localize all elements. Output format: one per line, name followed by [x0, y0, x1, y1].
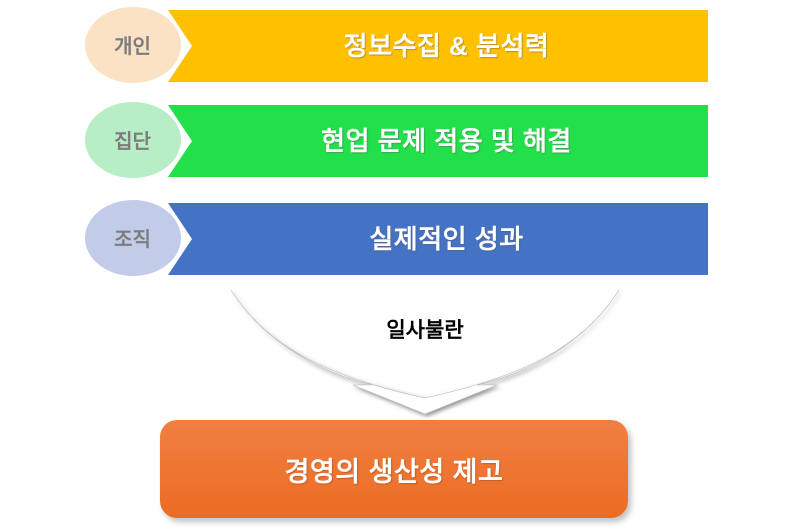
bar-label-organization: 실제적인 성과 [185, 199, 708, 275]
tag-label-organization: 조직 [84, 199, 181, 275]
process-flow-diagram: 개인 정보수집 & 분석력 집단 현업 문제 적용 및 해결 조직 실제적인 성… [0, 0, 785, 530]
bar-label-group: 현업 문제 적용 및 해결 [185, 101, 708, 177]
bar-label-individual: 정보수집 & 분석력 [185, 6, 708, 82]
down-arrow-icon [225, 286, 625, 418]
tag-label-group: 집단 [84, 101, 181, 177]
arrow-label: 일사불란 [225, 314, 625, 344]
tag-label-individual: 개인 [84, 6, 181, 82]
convergence-arrow-group: 일사불란 [225, 286, 625, 418]
result-box: 경영의 생산성 제고 [160, 420, 628, 518]
flow-row-group: 집단 현업 문제 적용 및 해결 [0, 101, 785, 181]
flow-row-individual: 개인 정보수집 & 분석력 [0, 6, 785, 86]
flow-row-organization: 조직 실제적인 성과 [0, 199, 785, 279]
result-label: 경영의 생산성 제고 [285, 450, 504, 489]
